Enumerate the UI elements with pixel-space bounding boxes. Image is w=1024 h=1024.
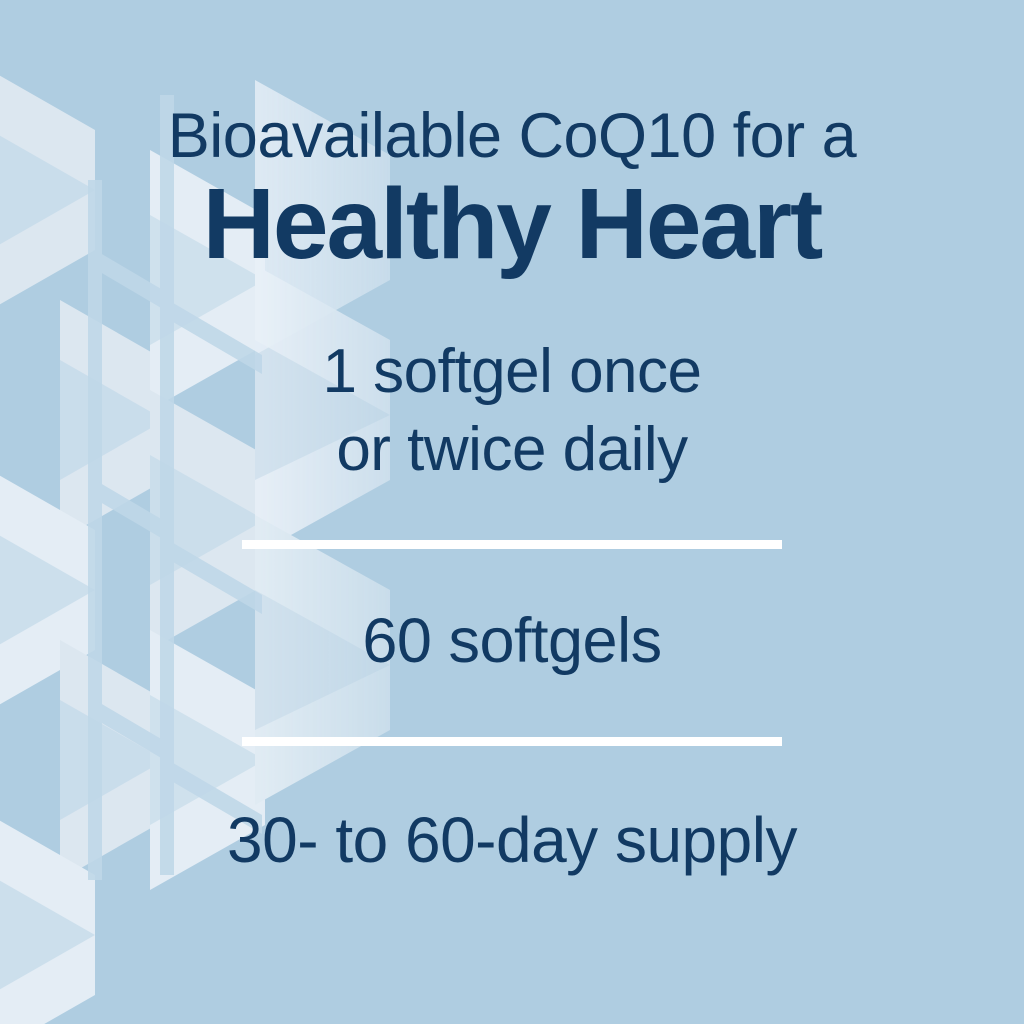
- headline-line-1: Bioavailable CoQ10 for a: [0, 101, 1024, 171]
- divider-top: [242, 540, 782, 549]
- headline: Bioavailable CoQ10 for a Healthy Heart: [0, 101, 1024, 277]
- softgel-count: 60 softgels: [0, 605, 1024, 677]
- dosage-line-1: 1 softgel once: [0, 333, 1024, 411]
- dosage-instruction: 1 softgel once or twice daily: [0, 333, 1024, 489]
- divider-bottom: [242, 737, 782, 746]
- supply-duration: 30- to 60-day supply: [0, 803, 1024, 877]
- headline-line-2: Healthy Heart: [0, 171, 1024, 277]
- dosage-line-2: or twice daily: [0, 411, 1024, 489]
- product-info-card: Bioavailable CoQ10 for a Healthy Heart 1…: [0, 0, 1024, 1024]
